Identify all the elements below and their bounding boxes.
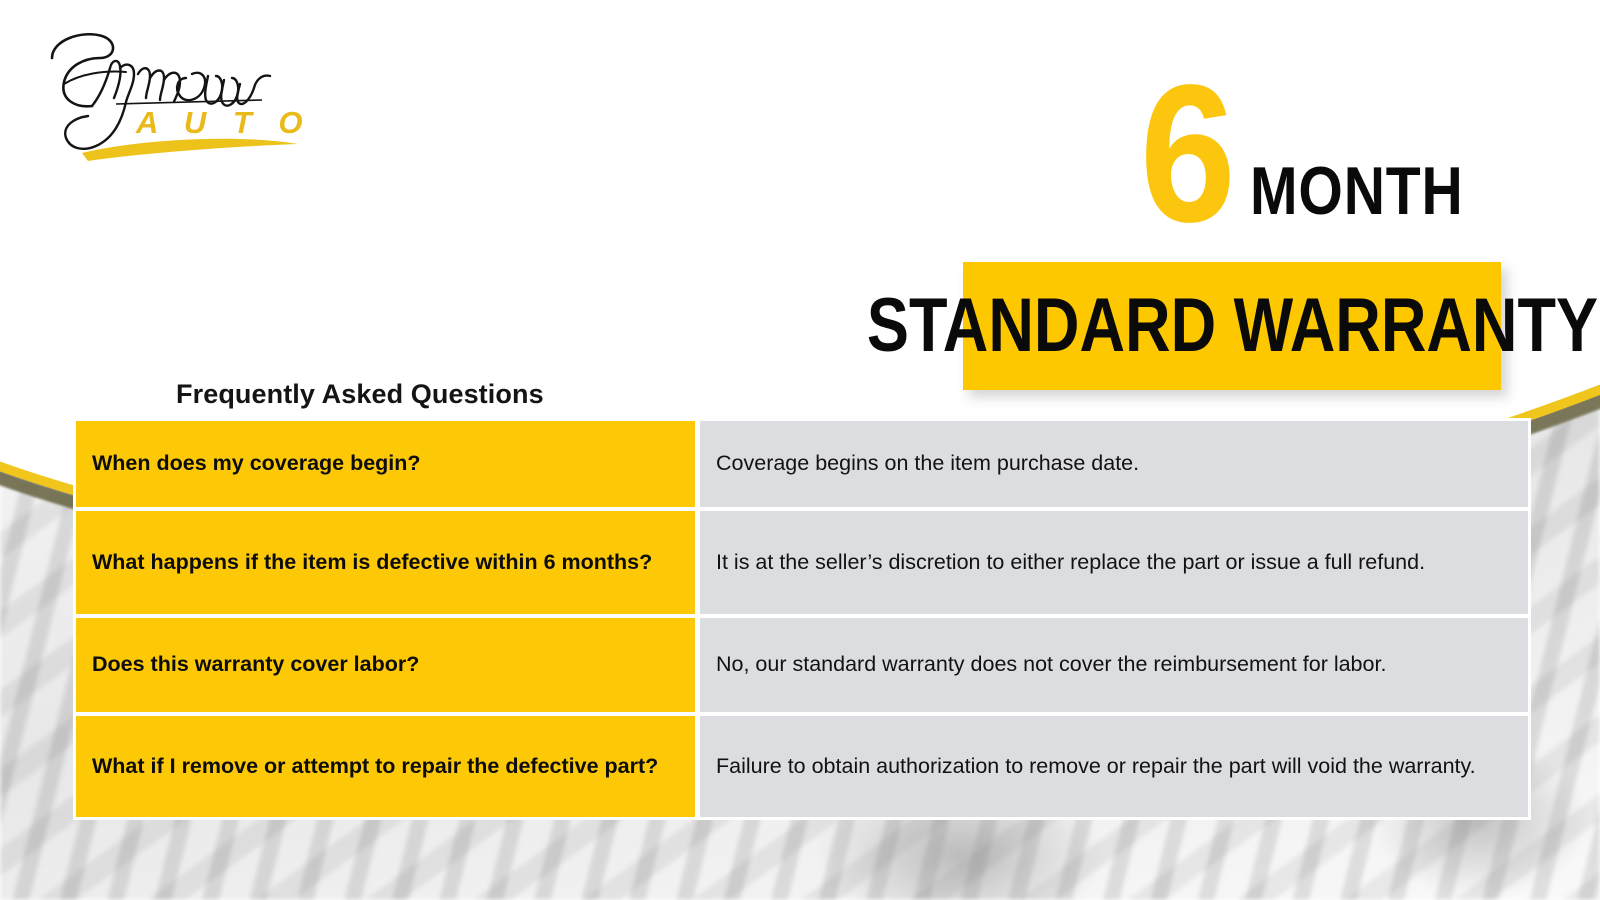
faq-table: When does my coverage begin? Coverage be… bbox=[73, 418, 1531, 820]
standard-warranty-banner: STANDARD WARRANTY bbox=[963, 262, 1501, 390]
table-row: When does my coverage begin? Coverage be… bbox=[76, 421, 1528, 507]
faq-answer: No, our standard warranty does not cover… bbox=[700, 618, 1528, 712]
faq-question: What happens if the item is defective wi… bbox=[76, 511, 695, 614]
faq-question: What if I remove or attempt to repair th… bbox=[76, 716, 695, 817]
faq-answer-text: No, our standard warranty does not cover… bbox=[716, 651, 1510, 679]
faq-question: Does this warranty cover labor? bbox=[76, 618, 695, 712]
seymour-auto-logo[interactable]: A U T O bbox=[30, 22, 330, 172]
standard-warranty-banner-text: STANDARD WARRANTY bbox=[866, 288, 1597, 364]
faq-answer-text: Failure to obtain authorization to remov… bbox=[716, 753, 1510, 781]
warranty-slide: A U T O 6 MONTH STANDARD WARRANTY Freque… bbox=[0, 0, 1600, 900]
svg-text:A U T O: A U T O bbox=[135, 105, 312, 140]
table-row: What happens if the item is defective wi… bbox=[76, 511, 1528, 614]
logo-swoosh-icon bbox=[82, 139, 298, 161]
faq-question: When does my coverage begin? bbox=[76, 421, 695, 507]
table-row: What if I remove or attempt to repair th… bbox=[76, 716, 1528, 817]
table-row: Does this warranty cover labor? No, our … bbox=[76, 618, 1528, 712]
faq-answer: Failure to obtain authorization to remov… bbox=[700, 716, 1528, 817]
warranty-term: 6 MONTH bbox=[1127, 78, 1504, 231]
faq-answer: It is at the seller’s discretion to eith… bbox=[700, 511, 1528, 614]
term-unit: MONTH bbox=[1250, 162, 1464, 220]
faq-heading: Frequently Asked Questions bbox=[176, 379, 544, 410]
term-number: 6 bbox=[1140, 78, 1234, 231]
faq-answer: Coverage begins on the item purchase dat… bbox=[700, 421, 1528, 507]
faq-answer-text: It is at the seller’s discretion to eith… bbox=[716, 549, 1510, 577]
faq-answer-text: Coverage begins on the item purchase dat… bbox=[716, 450, 1510, 478]
logo-auto-text: A U T O bbox=[135, 105, 312, 140]
